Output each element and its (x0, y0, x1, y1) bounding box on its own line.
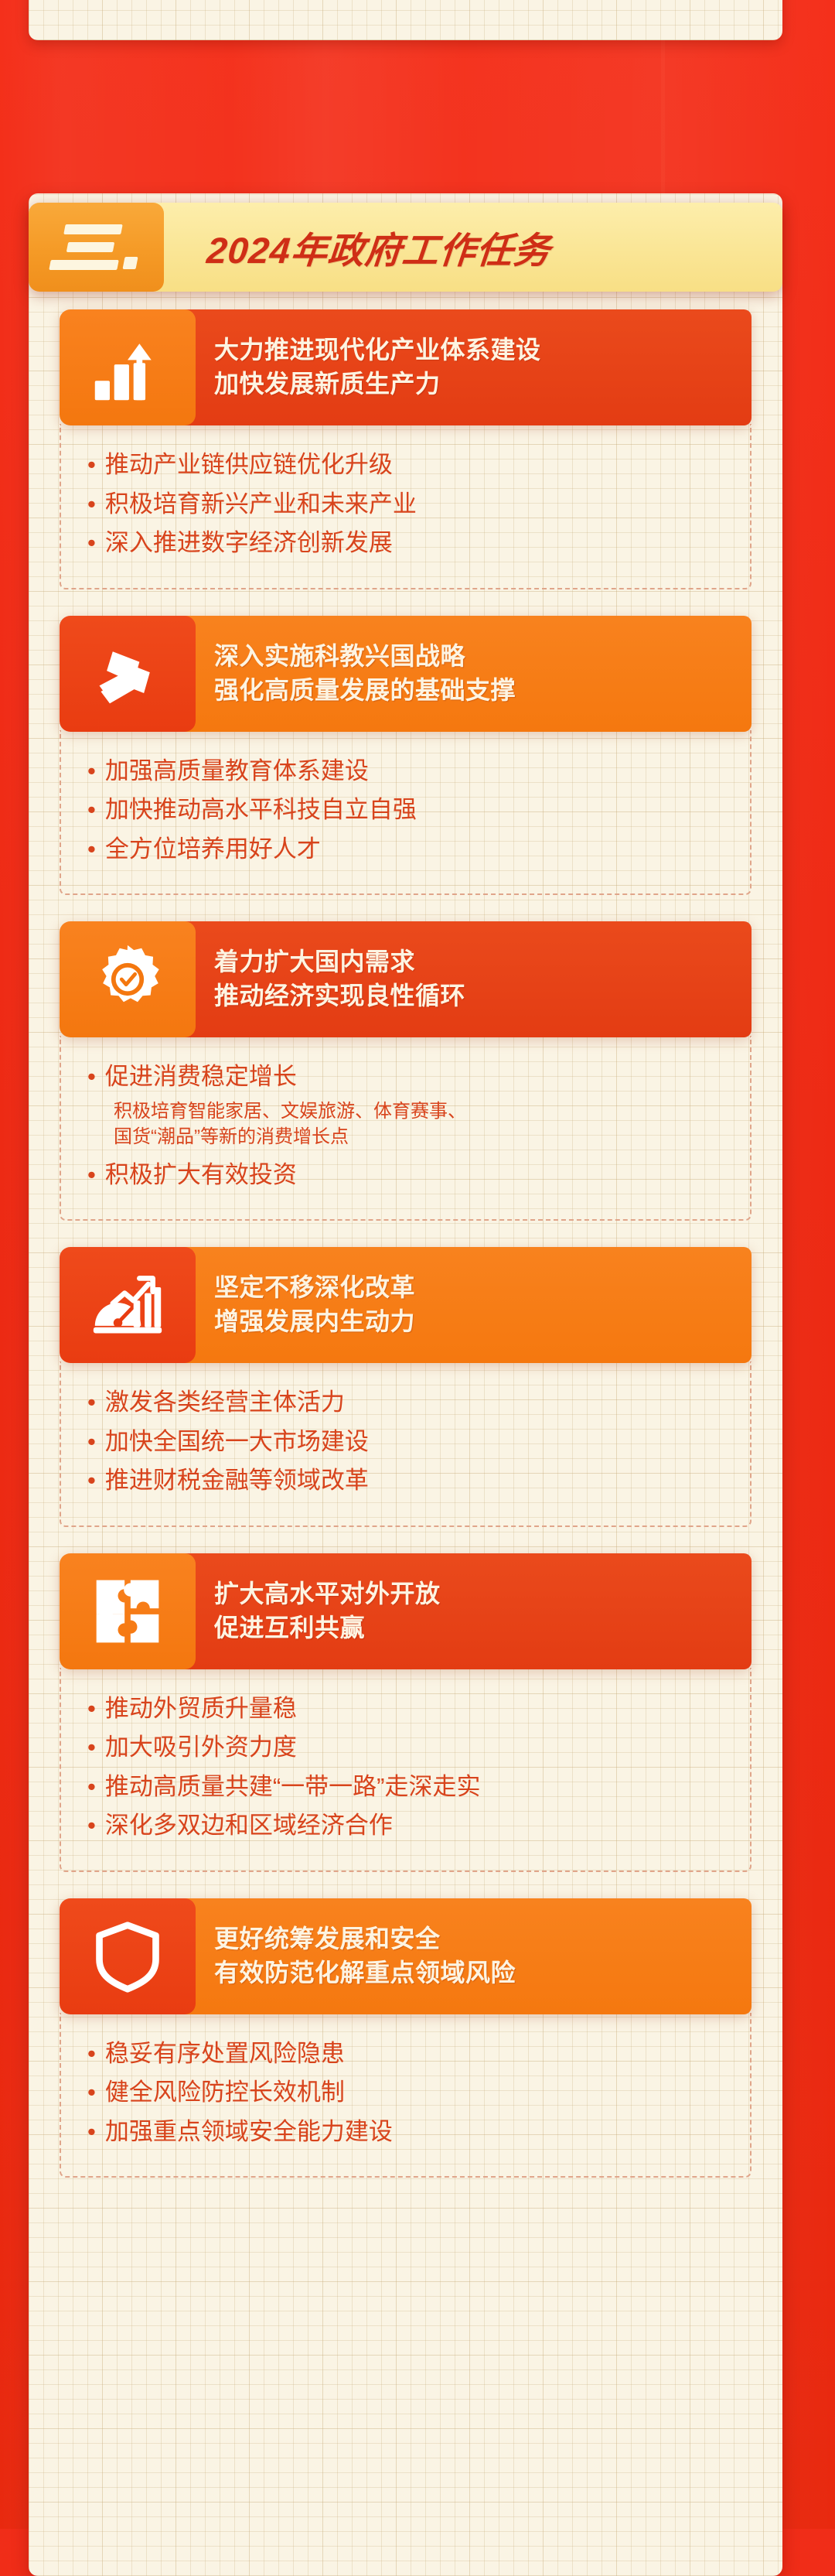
task-header: 更好统筹发展和安全有效防范化解重点领域风险 (60, 1898, 751, 2014)
task-card: 扩大高水平对外开放促进互利共赢•推动外贸质升量稳•加大吸引外资力度•推动高质量共… (60, 1553, 751, 1872)
task-title-bar: 深入实施科教兴国战略强化高质量发展的基础支撑 (183, 616, 751, 732)
task-card: 着力扩大国内需求推动经济实现良性循环•促进消费稳定增长积极培育智能家居、文娱旅游… (60, 921, 751, 1221)
bullet-text: 加快全国统一大市场建设 (105, 1424, 730, 1461)
bullet-text: 全方位培养用好人才 (105, 832, 730, 868)
books-icon (60, 616, 196, 732)
task-header: 深入实施科教兴国战略强化高质量发展的基础支撑 (60, 616, 751, 732)
list-item: •全方位培养用好人才 (87, 832, 730, 868)
task-title-line-1: 坚定不移深化改革 (214, 1273, 751, 1303)
task-header: 坚定不移深化改革增强发展内生动力 (60, 1247, 751, 1363)
bullet-text: 推动产业链供应链优化升级 (105, 447, 730, 483)
list-item: •激发各类经营主体活力 (87, 1385, 730, 1421)
list-item: •加快推动高水平科技自立自强 (87, 792, 730, 828)
list-item: •推进财税金融等领域改革 (87, 1463, 730, 1499)
list-item: •加大吸引外资力度 (87, 1730, 730, 1766)
task-title-line-1: 大力推进现代化产业体系建设 (214, 336, 751, 365)
task-title-bar: 更好统筹发展和安全有效防范化解重点领域风险 (183, 1898, 751, 2014)
task-header: 大力推进现代化产业体系建设加快发展新质生产力 (60, 309, 751, 425)
bullet-text: 加强高质量教育体系建设 (105, 753, 730, 790)
bullet-dot-icon: • (87, 1157, 96, 1194)
list-item: •加快全国统一大市场建设 (87, 1424, 730, 1461)
section-title-banner: 2024年政府工作任务 (152, 203, 782, 292)
task-title-line-2: 有效防范化解重点领域风险 (214, 1959, 751, 1988)
task-title-line-2: 促进互利共赢 (214, 1614, 751, 1643)
bullet-dot-icon: • (87, 2114, 96, 2151)
bullet-text: 深入推进数字经济创新发展 (105, 525, 730, 562)
task-bullet-box: •激发各类经营主体活力•加快全国统一大市场建设•推进财税金融等领域改革 (60, 1361, 751, 1527)
bullet-text: 稳妥有序处置风险隐患 (105, 2036, 730, 2072)
bullet-text: 积极扩大有效投资 (105, 1157, 730, 1194)
bullet-dot-icon: • (87, 447, 96, 483)
gear-check-icon (60, 921, 196, 1037)
list-item: •深入推进数字经济创新发展 (87, 525, 730, 562)
bullet-dot-icon: • (87, 1424, 96, 1461)
bullet-subtext: 积极培育智能家居、文娱旅游、体育赛事、国货“潮品”等新的消费增长点 (114, 1098, 730, 1150)
list-item: •积极扩大有效投资 (87, 1157, 730, 1194)
bullet-subtext-line-2: 国货“潮品”等新的消费增长点 (114, 1124, 730, 1150)
bullet-text: 推动高质量共建“一带一路”走深走实 (105, 1769, 730, 1806)
list-item: •推动高质量共建“一带一路”走深走实 (87, 1769, 730, 1806)
bullet-dot-icon: • (87, 1385, 96, 1421)
bullet-dot-icon: • (87, 487, 96, 523)
list-item: •深化多双边和区域经济合作 (87, 1808, 730, 1844)
task-card: 更好统筹发展和安全有效防范化解重点领域风险•稳妥有序处置风险隐患•健全风险防控长… (60, 1898, 751, 2178)
bullet-text: 深化多双边和区域经济合作 (105, 1808, 730, 1844)
shield-icon (60, 1898, 196, 2014)
task-title-line-1: 深入实施科教兴国战略 (214, 642, 751, 671)
bullet-dot-icon: • (87, 2036, 96, 2072)
bullet-dot-icon: • (87, 1808, 96, 1844)
list-item: •推动外贸质升量稳 (87, 1691, 730, 1727)
bullet-subtext-line-1: 积极培育智能家居、文娱旅游、体育赛事、 (114, 1098, 730, 1124)
bullet-dot-icon: • (87, 1059, 96, 1095)
list-item: •推动产业链供应链优化升级 (87, 447, 730, 483)
bullet-text: 加强重点领域安全能力建设 (105, 2114, 730, 2151)
bullet-dot-icon: • (87, 525, 96, 562)
task-bullet-box: •推动产业链供应链优化升级•积极培育新兴产业和未来产业•深入推进数字经济创新发展 (60, 424, 751, 589)
task-header: 扩大高水平对外开放促进互利共赢 (60, 1553, 751, 1669)
task-card: 深入实施科教兴国战略强化高质量发展的基础支撑•加强高质量教育体系建设•加快推动高… (60, 616, 751, 896)
bullet-dot-icon: • (87, 832, 96, 868)
bullet-list: •促进消费稳定增长积极培育智能家居、文娱旅游、体育赛事、国货“潮品”等新的消费增… (87, 1059, 730, 1193)
section-number-glyph (49, 224, 144, 270)
list-item: •加强高质量教育体系建设 (87, 753, 730, 790)
puzzle-icon (60, 1553, 196, 1669)
list-item: •稳妥有序处置风险隐患 (87, 2036, 730, 2072)
bullet-dot-icon: • (87, 792, 96, 828)
task-card: 大力推进现代化产业体系建设加快发展新质生产力•推动产业链供应链优化升级•积极培育… (60, 309, 751, 589)
bullet-list: •加强高质量教育体系建设•加快推动高水平科技自立自强•全方位培养用好人才 (87, 753, 730, 868)
task-list: 大力推进现代化产业体系建设加快发展新质生产力•推动产业链供应链优化升级•积极培育… (29, 309, 782, 2204)
task-bullet-box: •加强高质量教育体系建设•加快推动高水平科技自立自强•全方位培养用好人才 (60, 730, 751, 896)
bullet-text: 推进财税金融等领域改革 (105, 1463, 730, 1499)
bar-chart-growth-icon (60, 309, 196, 425)
list-item: •健全风险防控长效机制 (87, 2075, 730, 2111)
bullet-text: 激发各类经营主体活力 (105, 1385, 730, 1421)
three-strokes-icon (49, 224, 125, 270)
task-title-line-1: 更好统筹发展和安全 (214, 1925, 751, 1954)
task-title-line-1: 扩大高水平对外开放 (214, 1580, 751, 1609)
bullet-dot-icon: • (87, 1730, 96, 1766)
task-header: 着力扩大国内需求推动经济实现良性循环 (60, 921, 751, 1037)
task-title-bar: 坚定不移深化改革增强发展内生动力 (183, 1247, 751, 1363)
bullet-text: 促进消费稳定增长 (105, 1059, 730, 1095)
task-title-bar: 大力推进现代化产业体系建设加快发展新质生产力 (183, 309, 751, 425)
gauge-growth-icon (60, 1247, 196, 1363)
bullet-list: •激发各类经营主体活力•加快全国统一大市场建设•推进财税金融等领域改革 (87, 1385, 730, 1499)
bullet-dot-icon: • (87, 1769, 96, 1806)
task-title-bar: 扩大高水平对外开放促进互利共赢 (183, 1553, 751, 1669)
task-bullet-box: •稳妥有序处置风险隐患•健全风险防控长效机制•加强重点领域安全能力建设 (60, 2013, 751, 2178)
task-title-line-2: 推动经济实现良性循环 (214, 982, 751, 1011)
task-bullet-box: •促进消费稳定增长积极培育智能家居、文娱旅游、体育赛事、国货“潮品”等新的消费增… (60, 1036, 751, 1221)
bullet-list: •稳妥有序处置风险隐患•健全风险防控长效机制•加强重点领域安全能力建设 (87, 2036, 730, 2151)
bullet-text: 加大吸引外资力度 (105, 1730, 730, 1766)
bullet-dot-icon: • (87, 753, 96, 790)
task-card: 坚定不移深化改革增强发展内生动力•激发各类经营主体活力•加快全国统一大市场建设•… (60, 1247, 751, 1527)
section-header: 2024年政府工作任务 (29, 203, 782, 292)
bullet-text: 健全风险防控长效机制 (105, 2075, 730, 2111)
section-number-badge (29, 203, 164, 292)
bullet-dot-icon: • (87, 2075, 96, 2111)
bullet-list: •推动外贸质升量稳•加大吸引外资力度•推动高质量共建“一带一路”走深走实•深化多… (87, 1691, 730, 1844)
bullet-text: 积极培育新兴产业和未来产业 (105, 487, 730, 523)
previous-section-card-partial (29, 0, 782, 40)
task-title-line-2: 增强发展内生动力 (214, 1307, 751, 1337)
task-title-line-1: 着力扩大国内需求 (214, 948, 751, 977)
section-title: 2024年政府工作任务 (205, 220, 554, 274)
task-title-line-2: 加快发展新质生产力 (214, 370, 751, 399)
bullet-dot-icon: • (87, 1463, 96, 1499)
list-item: •促进消费稳定增长 (87, 1059, 730, 1095)
list-item: •加强重点领域安全能力建设 (87, 2114, 730, 2151)
list-item: •积极培育新兴产业和未来产业 (87, 487, 730, 523)
task-title-bar: 着力扩大国内需求推动经济实现良性循环 (183, 921, 751, 1037)
bullet-text: 推动外贸质升量稳 (105, 1691, 730, 1727)
period-dot-icon (122, 257, 138, 269)
task-bullet-box: •推动外贸质升量稳•加大吸引外资力度•推动高质量共建“一带一路”走深走实•深化多… (60, 1668, 751, 1872)
bullet-list: •推动产业链供应链优化升级•积极培育新兴产业和未来产业•深入推进数字经济创新发展 (87, 447, 730, 562)
bullet-text: 加快推动高水平科技自立自强 (105, 792, 730, 828)
task-title-line-2: 强化高质量发展的基础支撑 (214, 676, 751, 705)
bullet-dot-icon: • (87, 1691, 96, 1727)
